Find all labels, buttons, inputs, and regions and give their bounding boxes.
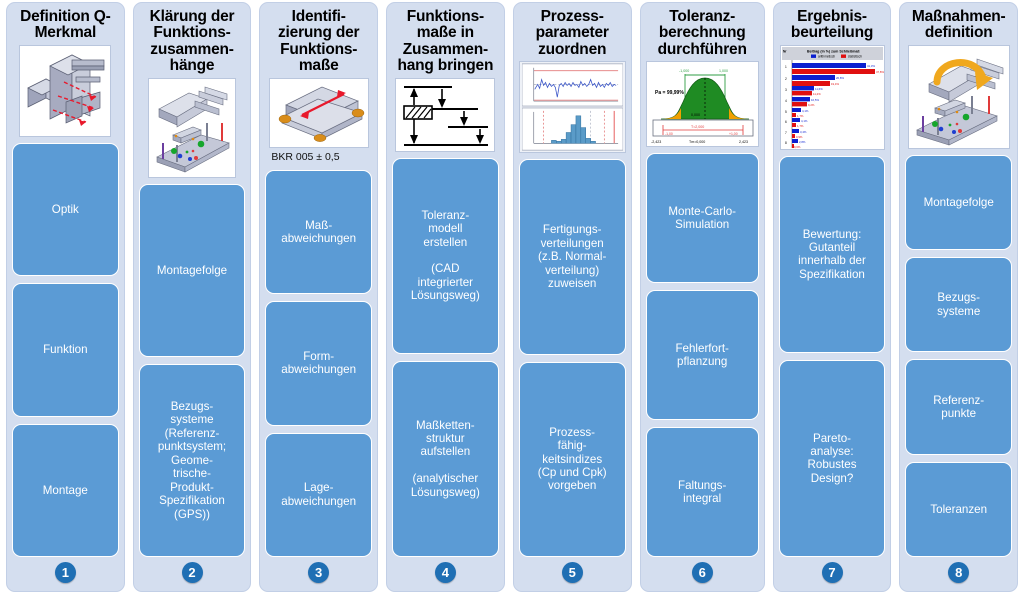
process-step-column-2[interactable]: Klärung der Funktions- zusammen- hänge <box>133 2 252 592</box>
svg-text:statistisch: statistisch <box>848 54 862 58</box>
column-title: Maßnahmen- definition <box>905 9 1012 42</box>
svg-text:+1,00: +1,00 <box>729 132 738 136</box>
step-box-list: Maß- abweichungen Form- abweichungen Lag… <box>265 170 372 557</box>
step-number-badge: 6 <box>692 562 713 583</box>
svg-text:Beitrag (in %) zum Schließmaß: Beitrag (in %) zum Schließmaß <box>807 49 860 53</box>
process-step-column-6[interactable]: Toleranz- berechnung durchführen Pa = 99… <box>640 2 765 592</box>
svg-text:5: 5 <box>785 110 787 114</box>
step-box[interactable]: Pareto- analyse: Robustes Design? <box>779 360 886 557</box>
step-number-badge: 7 <box>822 562 843 583</box>
dimension-chain-icon <box>396 79 494 151</box>
step-box[interactable]: Montagefolge <box>905 155 1012 250</box>
process-step-column-7[interactable]: Ergebnis- beurteilung Beitrag (in %) zum… <box>773 2 892 592</box>
svg-text:0,000: 0,000 <box>691 113 700 117</box>
step-box-list: Toleranz- modell erstellen (CAD integrie… <box>392 158 499 557</box>
process-step-column-5[interactable]: Prozess- parameter zuordnen <box>513 2 632 592</box>
column-title: Definition Q-Merkmal <box>12 9 119 42</box>
svg-text:3,4%: 3,4% <box>800 130 807 134</box>
step-badge-wrap: 1 <box>12 557 119 587</box>
column-title: Ergebnis- beurteilung <box>779 9 886 42</box>
step-box[interactable]: Maßketten- struktur aufstellen (analytis… <box>392 361 499 557</box>
step-number-badge: 8 <box>948 562 969 583</box>
thumbnail-exploded-assembly-connector-and-pcb <box>148 78 236 178</box>
svg-text:1,000: 1,000 <box>719 69 728 73</box>
step-badge-wrap: 4 <box>392 557 499 587</box>
step-box[interactable]: Lage- abweichungen <box>265 433 372 557</box>
svg-text:4,1%: 4,1% <box>801 119 808 123</box>
thumbnail-tolerance-chain-dimension-diagram <box>395 78 495 152</box>
step-box[interactable]: Bewertung: Gutanteil innerhalb der Spezi… <box>779 156 886 353</box>
thumbnail-pareto-bar-chart-contributions: Beitrag (in %) zum Schließmaß arithmetis… <box>780 45 885 150</box>
step-box[interactable]: Maß- abweichungen <box>265 170 372 294</box>
process-step-column-4[interactable]: Funktions- maße in Zusammen- hang bringe… <box>386 2 505 592</box>
svg-text:3: 3 <box>785 88 787 92</box>
step-box[interactable]: Funktion <box>12 283 119 416</box>
step-box[interactable]: Montage <box>12 424 119 557</box>
step-badge-wrap: 3 <box>265 557 372 587</box>
thumbnail-assembly-with-orange-rotation-arrow <box>908 45 1010 149</box>
svg-text:0,6%: 0,6% <box>794 145 801 149</box>
svg-text:11,6%: 11,6% <box>815 87 823 91</box>
step-box[interactable]: Bezugs- systeme <box>905 257 1012 352</box>
step-box-list: Montagefolge Bezugs- systeme (Referenz- … <box>139 184 246 557</box>
svg-text:9,2%: 9,2% <box>808 103 815 107</box>
thumbnail-caption: BKR 005 ± 0,5 <box>271 151 339 164</box>
step-box[interactable]: Montagefolge <box>139 184 246 357</box>
step-box-list: Montagefolge Bezugs- systeme Referenz- p… <box>905 155 1012 557</box>
process-step-column-8[interactable]: Maßnahmen- definition <box>899 2 1018 592</box>
step-badge-wrap: 2 <box>139 557 246 587</box>
svg-text:8: 8 <box>785 141 787 145</box>
step-box[interactable]: Fehlerfort- pflanzung <box>646 290 759 420</box>
svg-text:7: 7 <box>785 131 787 135</box>
svg-text:Tm=0,000: Tm=0,000 <box>689 140 705 144</box>
svg-text:Pa = 99,99%: Pa = 99,99% <box>655 90 684 96</box>
spc-charts-icon <box>522 63 623 151</box>
cad-assembly-icon <box>20 46 110 136</box>
step-number-badge: 1 <box>55 562 76 583</box>
column-title: Klärung der Funktions- zusammen- hänge <box>139 9 246 75</box>
svg-text:arithmetisch: arithmetisch <box>818 54 835 58</box>
column-title: Toleranz- berechnung durchführen <box>646 9 759 58</box>
step-badge-wrap: 7 <box>779 557 886 587</box>
column-title: Funktions- maße in Zusammen- hang bringe… <box>392 9 499 75</box>
step-badge-wrap: 5 <box>519 557 626 587</box>
step-number-badge: 5 <box>562 562 583 583</box>
svg-text:T=2,000: T=2,000 <box>691 125 704 129</box>
svg-text:10,5%: 10,5% <box>811 98 819 102</box>
step-box[interactable]: Form- abweichungen <box>265 301 372 425</box>
svg-text:2,423: 2,423 <box>739 140 748 144</box>
column-title: Prozess- parameter zuordnen <box>519 9 626 58</box>
step-number-badge: 3 <box>308 562 329 583</box>
svg-text:11,2%: 11,2% <box>813 92 821 96</box>
step-box-list: Optik Funktion Montage <box>12 143 119 557</box>
step-box[interactable]: Fertigungs- verteilungen (z.B. Normal- v… <box>519 159 626 354</box>
thumbnail-normal-distribution-with-spec-limits: Pa = 99,99% 0,000 -1,000 1,000 T=2,000 -… <box>646 61 759 147</box>
svg-text:1: 1 <box>785 65 787 69</box>
svg-text:6: 6 <box>785 120 787 124</box>
normal-distribution-icon: Pa = 99,99% 0,000 -1,000 1,000 T=2,000 -… <box>647 62 758 146</box>
step-box[interactable]: Bezugs- systeme (Referenz- punktsystem; … <box>139 364 246 557</box>
step-box[interactable]: Prozess- fähig- keitsindizes (Cp und Cpk… <box>519 362 626 557</box>
svg-text:4: 4 <box>785 99 787 103</box>
process-step-column-1[interactable]: Definition Q-Merkmal <box>6 2 125 592</box>
process-diagram: Definition Q-Merkmal <box>0 0 1024 594</box>
exploded-assembly-icon <box>149 79 235 177</box>
column-title: Identifi- zierung der Funktions- maße <box>265 9 372 75</box>
svg-text:19,4%: 19,4% <box>831 82 839 86</box>
thumbnail-smd-part-with-red-dimension-arrow <box>269 78 369 148</box>
svg-text:41,3%: 41,3% <box>867 64 875 68</box>
svg-text:-2,423: -2,423 <box>651 140 661 144</box>
svg-text:1,7%: 1,7% <box>797 124 804 128</box>
step-box-list: Fertigungs- verteilungen (z.B. Normal- v… <box>519 159 626 557</box>
svg-text:20,8%: 20,8% <box>836 76 844 80</box>
svg-text:1,7%: 1,7% <box>797 114 804 118</box>
process-step-column-3[interactable]: Identifi- zierung der Funktions- maße <box>259 2 378 592</box>
thumbnail-cad-assembly-with-red-dimension-arrows <box>19 45 111 137</box>
step-box[interactable]: Monte-Carlo- Simulation <box>646 153 759 283</box>
step-box-list: Bewertung: Gutanteil innerhalb der Spezi… <box>779 156 886 557</box>
svg-text:47,8%: 47,8% <box>876 70 884 74</box>
step-badge-wrap: 8 <box>905 557 1012 587</box>
pareto-chart-icon: Beitrag (in %) zum Schließmaß arithmetis… <box>781 46 884 149</box>
step-number-badge: 2 <box>182 562 203 583</box>
svg-text:4,1%: 4,1% <box>802 109 809 113</box>
step-badge-wrap: 6 <box>646 557 759 587</box>
step-number-badge: 4 <box>435 562 456 583</box>
step-box[interactable]: Referenz- punkte <box>905 359 1012 454</box>
svg-text:2: 2 <box>785 77 787 81</box>
svg-text:-1,00: -1,00 <box>665 132 673 136</box>
svg-text:-1,000: -1,000 <box>679 69 689 73</box>
svg-text:0,9%: 0,9% <box>796 135 803 139</box>
rotation-assembly-icon <box>909 46 1009 148</box>
step-box[interactable]: Faltungs- integral <box>646 427 759 557</box>
thumbnail-control-chart-and-histogram <box>519 61 626 153</box>
smd-part-icon <box>270 79 368 147</box>
step-box[interactable]: Toleranzen <box>905 462 1012 557</box>
step-box[interactable]: Optik <box>12 143 119 276</box>
step-box[interactable]: Toleranz- modell erstellen (CAD integrie… <box>392 158 499 354</box>
step-box-list: Monte-Carlo- Simulation Fehlerfort- pfla… <box>646 153 759 557</box>
svg-text:2,8%: 2,8% <box>799 140 806 144</box>
